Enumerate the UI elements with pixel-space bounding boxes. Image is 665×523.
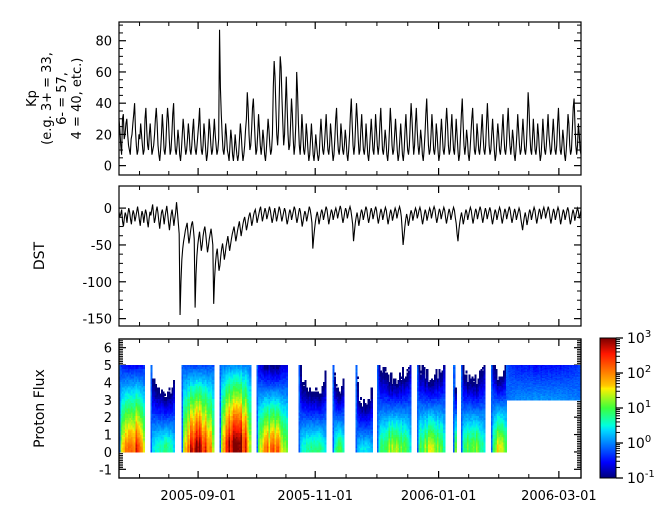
spectrogram-cell: [173, 450, 175, 453]
ytick-label-kp: 40: [95, 97, 112, 112]
ytick-label-dst: 0: [104, 202, 112, 217]
spectrogram-segment: [150, 365, 175, 453]
spectrogram-cell: [286, 450, 288, 453]
spectrogram-cell: [212, 450, 214, 453]
figure-root: 0204060800-50-100-150-101234562005-09-01…: [0, 0, 665, 523]
panel-frame-kp: [119, 22, 581, 175]
ylabel-kp: Kp(e.g. 3+ = 33,6- = 57,4 = 40, etc.): [25, 52, 85, 145]
ytick-label-kp: 60: [95, 66, 112, 81]
ylabel-text-proton-flux: Proton Flux: [32, 369, 48, 448]
xtick-label: 2005-09-01: [160, 489, 236, 504]
space-weather-figure: 0204060800-50-100-150-101234562005-09-01…: [0, 0, 665, 523]
ylabel-line-kp: 4 = 40, etc.): [70, 58, 85, 140]
ytick-label-proton-flux: 2: [104, 411, 112, 426]
spectrogram-segment: [181, 365, 214, 453]
ytick-label-proton-flux: 0: [104, 446, 112, 461]
proton-flux-spectrogram: [119, 365, 582, 453]
ytick-label-proton-flux: -1: [99, 463, 112, 478]
spectrogram-cell: [168, 388, 170, 391]
ytick-label-kp: 0: [104, 160, 112, 175]
ylabel-line-kp: 6- = 57,: [55, 72, 70, 125]
ytick-label-kp: 20: [95, 128, 112, 143]
kp-series: [119, 30, 581, 161]
ytick-label-dst: -150: [82, 313, 112, 328]
ylabel-proton-flux: Proton Flux: [32, 369, 48, 448]
spectrogram-cell: [143, 450, 145, 453]
ytick-label-proton-flux: 3: [104, 394, 112, 409]
ytick-label-kp: 80: [95, 35, 112, 50]
dst-series-path: [119, 202, 581, 315]
dst-series: [119, 202, 581, 315]
spectrogram-segment: [119, 365, 145, 453]
spectrogram-segment: [220, 365, 252, 453]
spectrogram-segment: [298, 365, 326, 453]
ytick-label-proton-flux: 5: [104, 359, 112, 374]
ylabel-dst: DST: [32, 241, 48, 270]
xtick-label: 2006-03-01: [521, 489, 597, 504]
kp-series-path: [119, 30, 581, 161]
ytick-label-dst: -50: [91, 239, 112, 254]
spectrogram-cell: [249, 450, 251, 453]
xtick-label: 2005-11-01: [277, 489, 353, 504]
ytick-label-dst: -100: [82, 276, 112, 291]
ylabel-text-dst: DST: [32, 241, 48, 270]
spectrogram-segment: [257, 365, 289, 453]
spectrogram-cell: [164, 393, 166, 396]
ylabel-line-kp: (e.g. 3+ = 33,: [40, 52, 55, 145]
ylabel-line-kp: Kp: [25, 90, 40, 107]
xtick-label: 2006-01-01: [401, 489, 477, 504]
ytick-label-proton-flux: 1: [104, 429, 112, 444]
ytick-label-proton-flux: 4: [104, 376, 112, 391]
ytick-label-proton-flux: 6: [104, 342, 112, 357]
